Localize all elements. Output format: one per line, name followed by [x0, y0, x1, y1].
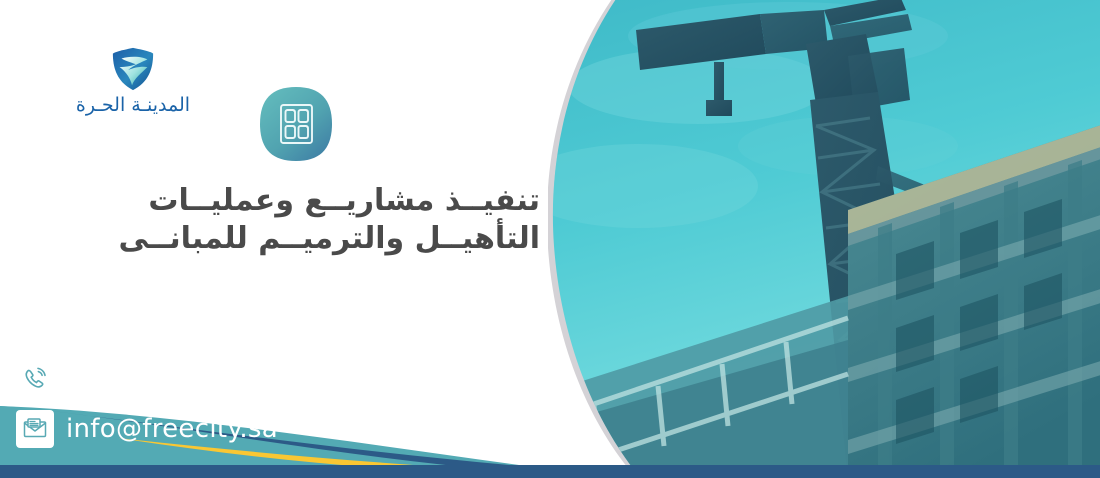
email-address: info@freecity.sa [66, 414, 278, 444]
bottom-accent-bar [0, 465, 1100, 478]
contact-row-phone[interactable]: 966507650238 [16, 360, 278, 398]
contact-row-email[interactable]: info@freecity.sa [16, 410, 278, 448]
page-title: تنفيــذ مشاريــع وعمليــات التأهيــل وال… [40, 182, 540, 259]
headline-line-1: تنفيــذ مشاريــع وعمليــات [40, 182, 540, 220]
brand-logo[interactable]: المدينـة الحـرة [48, 46, 218, 116]
construction-photo-panel [548, 0, 1100, 478]
brand-name: المدينـة الحـرة [48, 95, 218, 116]
construction-crane-building-photo [548, 0, 1100, 478]
shield-swoosh-logo-icon [110, 46, 156, 92]
phone-ringing-icon [16, 360, 54, 398]
window-panes-icon [258, 85, 334, 163]
photo-clip-shape [548, 0, 1100, 478]
promotional-banner: المدينـة الحـرة [0, 0, 1100, 478]
phone-number: 966507650238 [66, 364, 268, 394]
envelope-icon [16, 410, 54, 448]
contact-info: 966507650238 info@freecity.sa [16, 360, 278, 448]
headline-line-2: التأهيــل والترميــم للمبانــى [40, 220, 540, 258]
